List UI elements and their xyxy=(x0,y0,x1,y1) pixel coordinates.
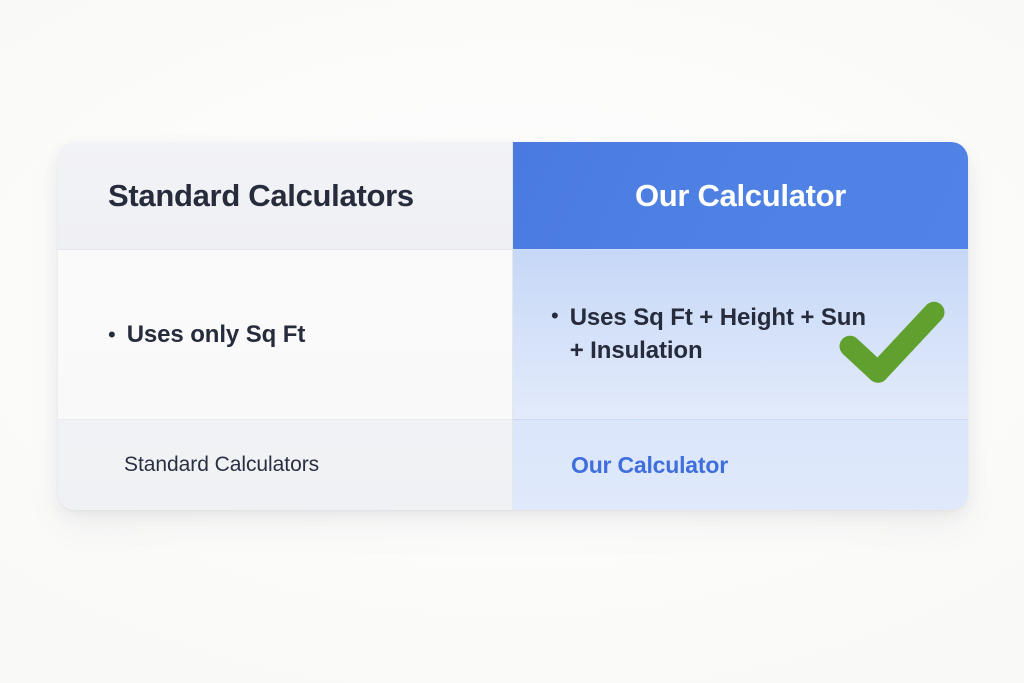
footer-cell-standard: Standard Calculators xyxy=(58,420,513,510)
feature-bullet-ours: • Uses Sq Ft + Height + Sun + Insulation xyxy=(551,302,880,366)
column-header-ours: Our Calculator xyxy=(513,142,968,250)
column-header-standard: Standard Calculators xyxy=(58,142,513,250)
feature-text-standard: Uses only Sq Ft xyxy=(127,321,306,349)
feature-cell-standard: • Uses only Sq Ft xyxy=(58,250,513,420)
feature-cell-ours: • Uses Sq Ft + Height + Sun + Insulation xyxy=(513,250,968,420)
column-header-standard-label: Standard Calculators xyxy=(108,178,414,214)
footer-label-standard: Standard Calculators xyxy=(124,453,319,477)
footer-cell-ours: Our Calculator xyxy=(513,420,968,510)
feature-bullet-standard: • Uses only Sq Ft xyxy=(108,321,305,349)
column-header-ours-label: Our Calculator xyxy=(635,178,846,214)
bullet-dot-icon: • xyxy=(551,305,559,327)
footer-label-ours: Our Calculator xyxy=(571,452,728,479)
bullet-dot-icon: • xyxy=(108,324,116,346)
feature-text-ours: Uses Sq Ft + Height + Sun + Insulation xyxy=(570,302,880,366)
comparison-table-card: Standard Calculators Our Calculator • Us… xyxy=(58,142,968,510)
feature-text-ours-lead: Uses xyxy=(570,304,634,331)
